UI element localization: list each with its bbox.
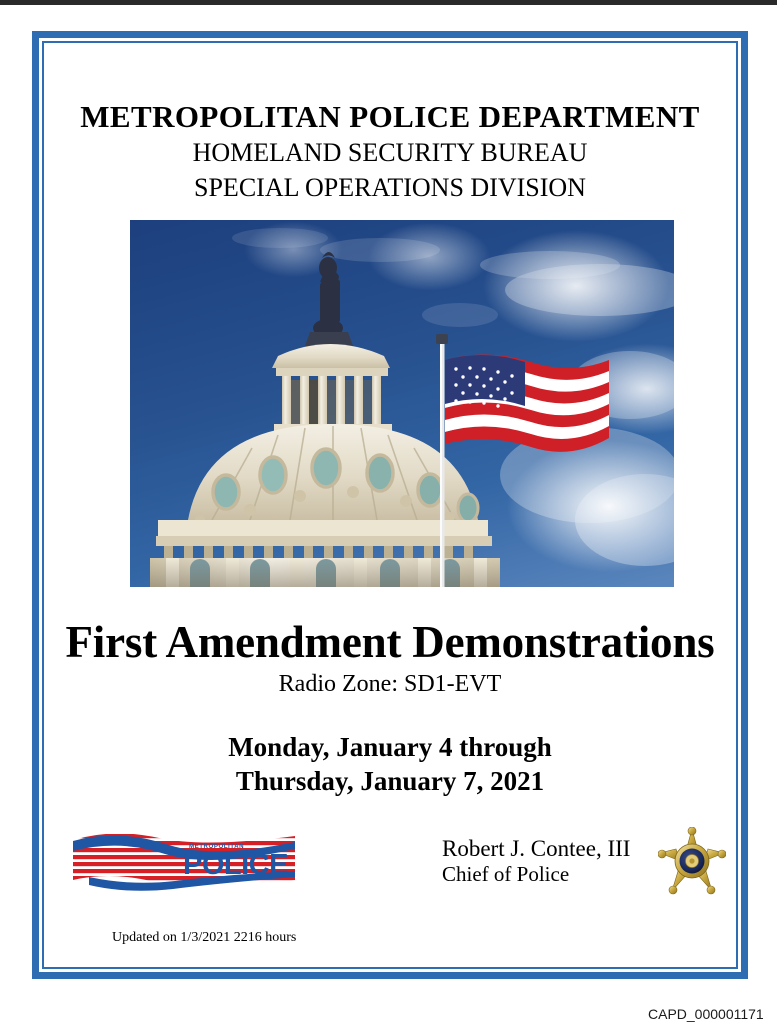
document-page: METROPOLITAN POLICE DEPARTMENT HOMELAND … [14, 9, 762, 995]
page-title: First Amendment Demonstrations [44, 616, 736, 668]
bureau-subtitle: HOMELAND SECURITY BUREAU [44, 138, 736, 169]
metropolitan-police-logo: METROPOLITAN POLICE [71, 824, 297, 896]
logo-main-text: POLICE [183, 849, 288, 881]
bates-number: CAPD_000001171 [648, 1006, 764, 1022]
date-range: Monday, January 4 through Thursday, Janu… [44, 731, 736, 799]
page-content: METROPOLITAN POLICE DEPARTMENT HOMELAND … [44, 43, 736, 967]
division-subtitle: SPECIAL OPERATIONS DIVISION [44, 173, 736, 204]
date-line-2: Thursday, January 7, 2021 [44, 765, 736, 799]
date-line-1: Monday, January 4 through [44, 731, 736, 765]
capitol-illustration [130, 220, 674, 587]
department-title: METROPOLITAN POLICE DEPARTMENT [44, 101, 736, 134]
chief-rank: Chief of Police [442, 862, 642, 887]
signature-row: METROPOLITAN POLICE Robert J. Contee, II… [44, 821, 736, 907]
updated-timestamp: Updated on 1/3/2021 2216 hours [112, 930, 296, 946]
capitol-dome-photo [130, 220, 674, 587]
chief-name: Robert J. Contee, III [442, 835, 642, 862]
radio-zone-label: Radio Zone: SD1-EVT [44, 671, 736, 698]
chief-signature-block: Robert J. Contee, III Chief of Police [442, 835, 642, 887]
scan-top-strip [0, 0, 777, 5]
police-badge-icon [658, 827, 726, 895]
